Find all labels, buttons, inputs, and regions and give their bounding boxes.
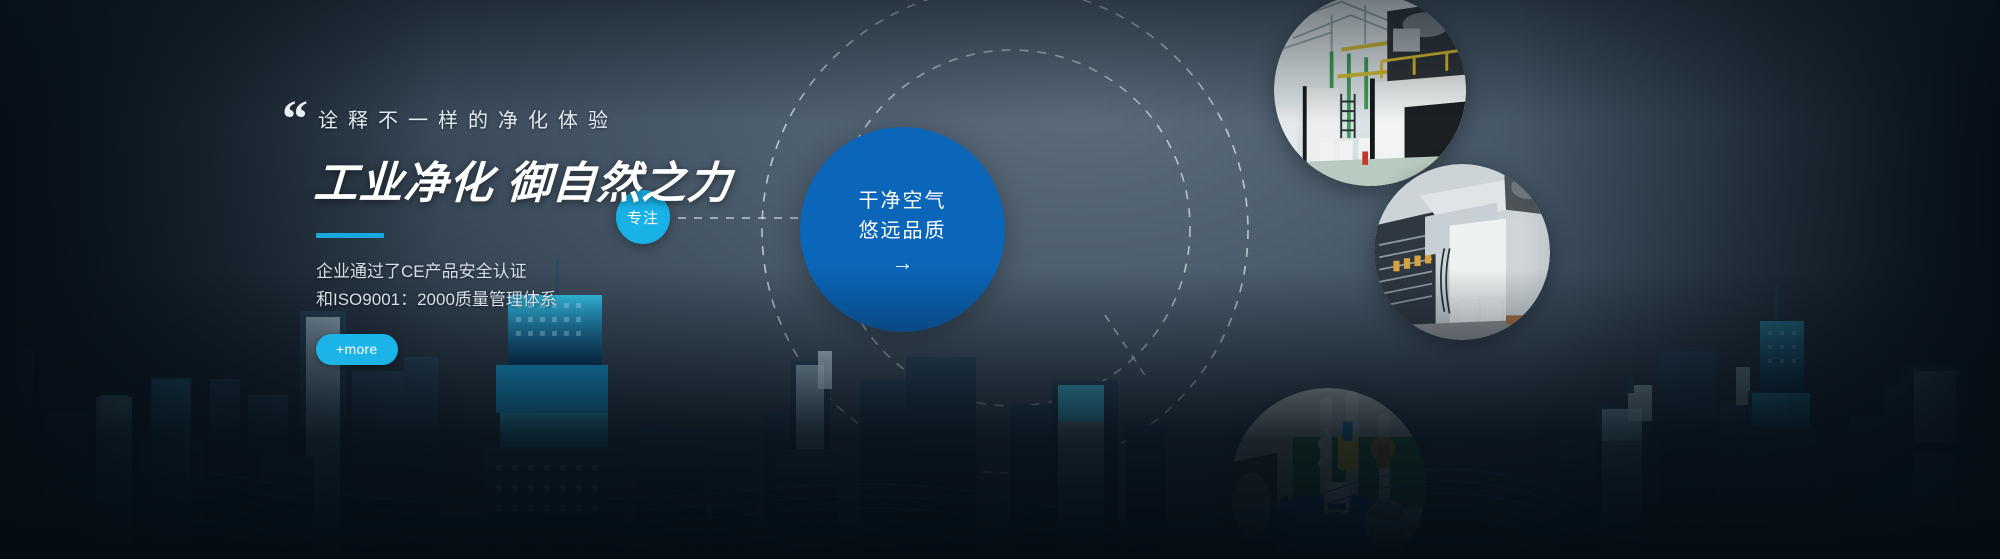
photo-bubble-production-machinery[interactable] — [1374, 164, 1550, 340]
accent-rule-divider — [316, 233, 384, 238]
skyline-left — [0, 349, 288, 559]
photo-bubble-industrial-plant[interactable] — [1274, 0, 1466, 186]
background-vignette — [0, 0, 2000, 559]
hero-banner: 干净空气 悠远品质 → 专注 — [0, 0, 2000, 559]
skyline-right-mid — [1010, 381, 1166, 559]
quote-mark-icon: “ — [282, 94, 308, 146]
background-noise-texture — [0, 0, 2000, 559]
wireframe-terrain — [0, 454, 2000, 559]
hero-subtext: 企业通过了CE产品安全认证 和ISO9001：2000质量管理体系 — [316, 258, 930, 314]
skyline-right — [1560, 351, 1830, 559]
photo-bubble-pipeline-valves[interactable] — [1230, 388, 1426, 559]
connector-hub-to-photo — [1105, 315, 1148, 380]
hero-headline: 工业净化 御自然之力 — [312, 147, 931, 211]
more-button[interactable]: +more — [316, 334, 398, 365]
hero-copy-block: “ 诠释不一样的净化体验 工业净化 御自然之力 企业通过了CE产品安全认证 和I… — [310, 96, 930, 365]
hero-subtext-line-1: 企业通过了CE产品安全认证 — [316, 258, 930, 286]
hero-kicker: 诠释不一样的净化体验 — [318, 104, 930, 133]
skyline-far-right — [1850, 365, 2000, 559]
city-skyline-graphic — [0, 259, 2000, 559]
skyline-tower-right — [1744, 285, 1818, 559]
skyline-center — [636, 351, 976, 559]
hero-subtext-line-2: 和ISO9001：2000质量管理体系 — [316, 286, 930, 314]
